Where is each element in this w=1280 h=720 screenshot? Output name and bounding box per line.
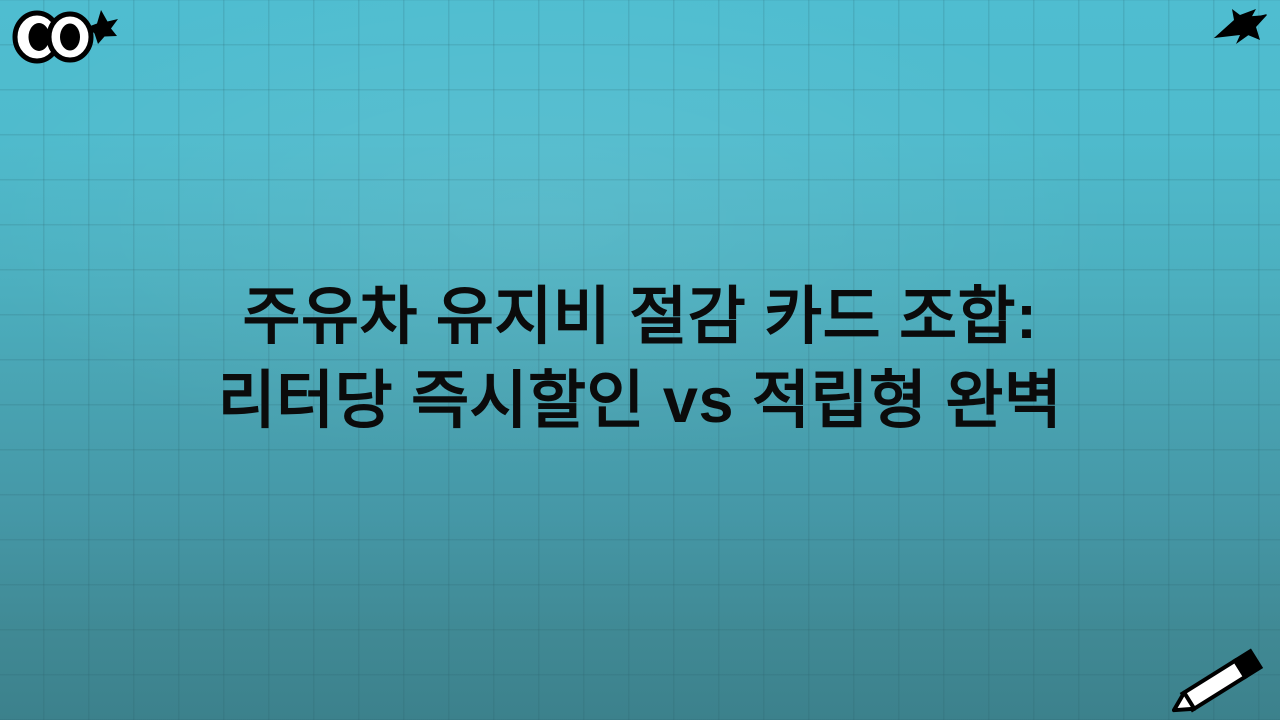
page-title-line-2: 리터당 즉시할인 vs 적립형 완벽 bbox=[218, 360, 1063, 444]
slide-canvas: 주유차 유지비 절감 카드 조합: 리터당 즉시할인 vs 적립형 완벽 bbox=[0, 0, 1280, 720]
page-title: 주유차 유지비 절감 카드 조합: 리터당 즉시할인 vs 적립형 완벽 bbox=[0, 0, 1280, 720]
page-title-line-1: 주유차 유지비 절감 카드 조합: bbox=[242, 276, 1037, 360]
